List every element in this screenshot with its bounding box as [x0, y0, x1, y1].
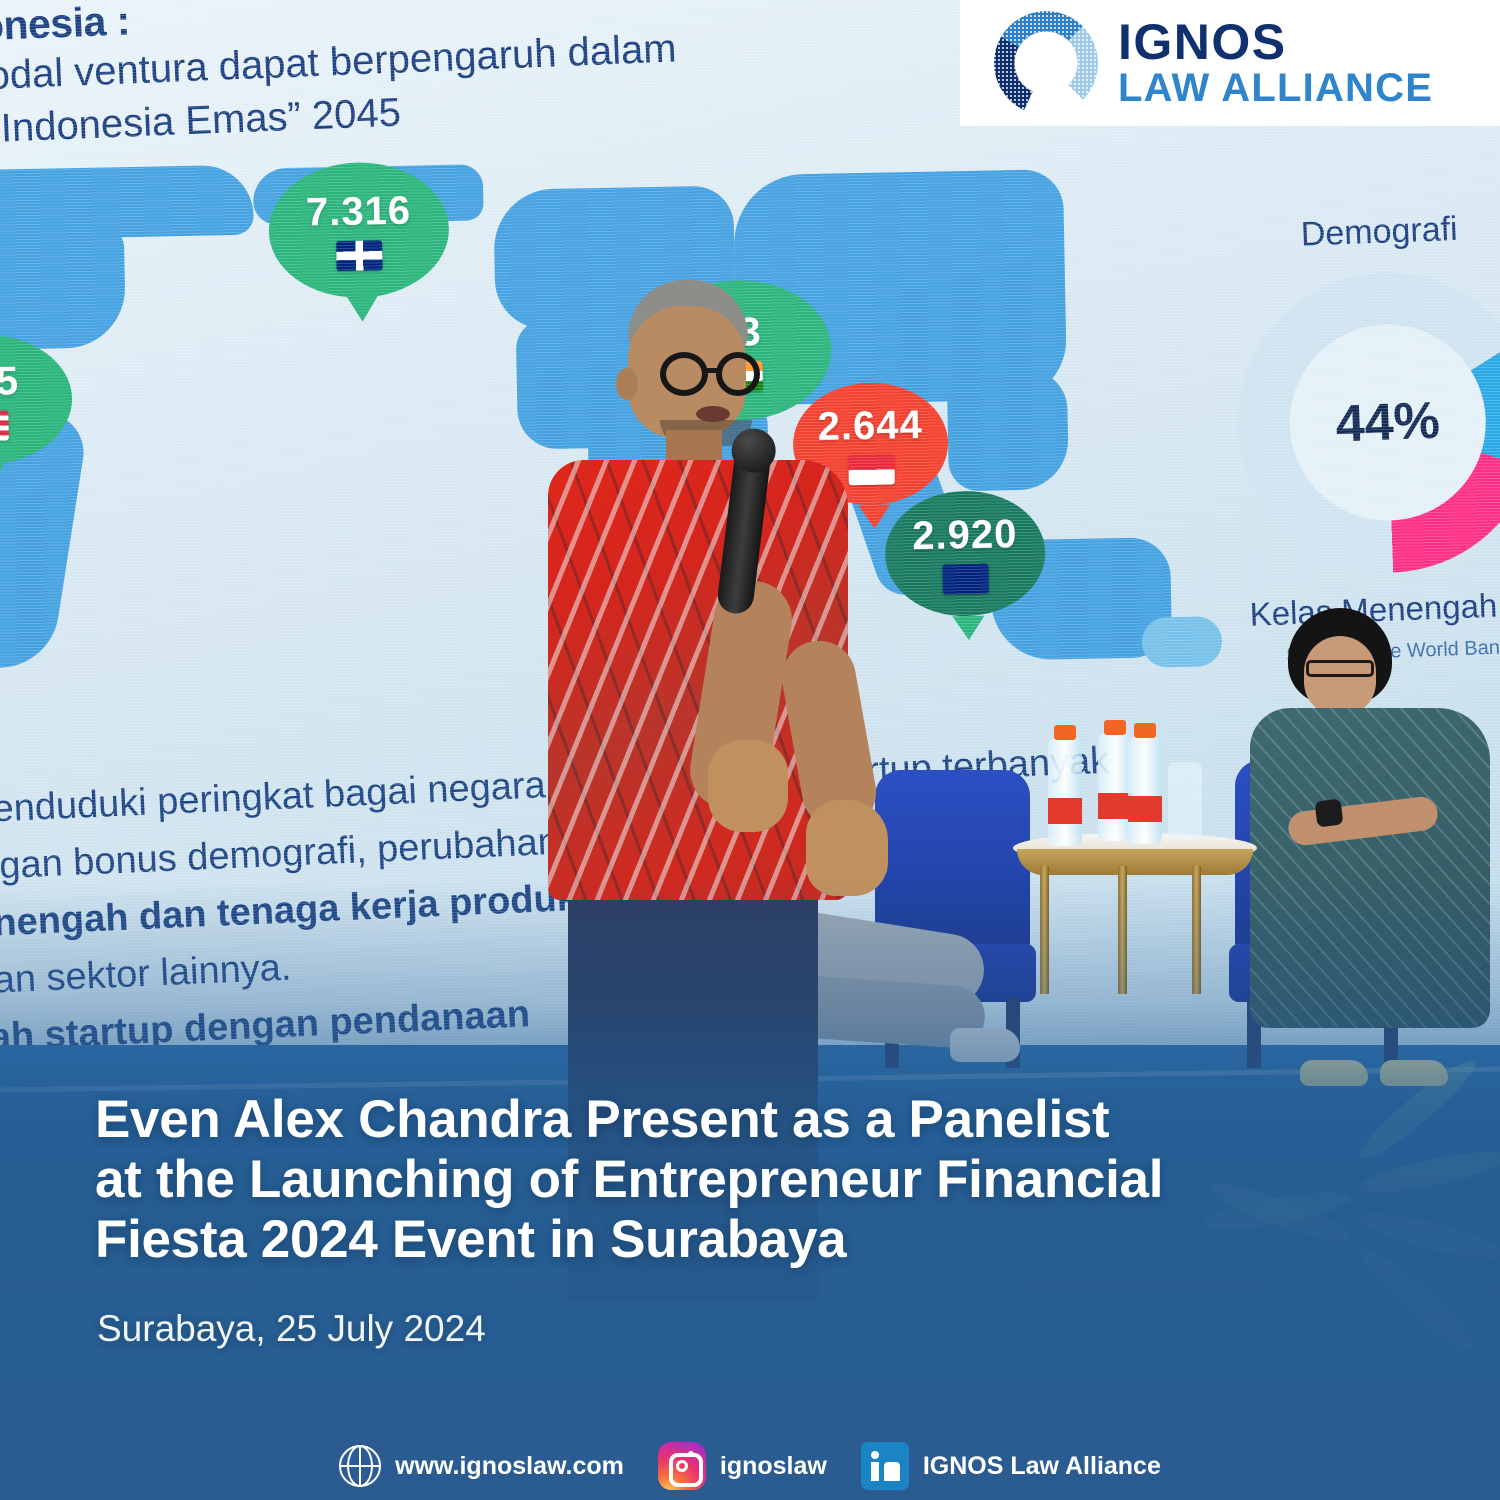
uk-flag [336, 240, 383, 271]
headline-line1: Even Alex Chandra Present as a Panelist [95, 1090, 1425, 1150]
headline-line2: at the Launching of Entrepreneur Financi… [95, 1150, 1425, 1210]
donut-center: 44% [1286, 321, 1489, 524]
australia-bubble: 2.920 [884, 490, 1046, 618]
water-bottle [1098, 733, 1132, 841]
water-bottle [1048, 738, 1082, 846]
poster: Indonesia : n modal ventura dapat berpen… [0, 0, 1500, 1500]
brand-tagline: LAW ALLIANCE [1118, 67, 1433, 109]
contact-footer: www.ignoslaw.com ignoslaw IGNOS Law Alli… [0, 1432, 1500, 1500]
water-glass [1168, 762, 1202, 840]
donut-ring: 44% [1232, 267, 1500, 578]
us-flag [0, 410, 8, 441]
donut-chart: Demografi 44% Kelas Menengah Sumber: The… [1130, 205, 1500, 642]
instagram-item[interactable]: ignoslaw [658, 1442, 827, 1490]
smartwatch [1315, 799, 1344, 828]
brand-name: IGNOS [1118, 18, 1433, 67]
linkedin-item[interactable]: IGNOS Law Alliance [861, 1442, 1161, 1490]
usa-bubble: 475 [0, 333, 73, 466]
water-bottle [1128, 736, 1162, 844]
ignos-ring-icon [994, 11, 1098, 115]
uk-bubble-value: 7.316 [306, 189, 412, 236]
page-title: Even Alex Chandra Present as a Panelist … [95, 1090, 1425, 1270]
event-date: Surabaya, 25 July 2024 [97, 1308, 486, 1350]
website-item[interactable]: www.ignoslaw.com [339, 1445, 624, 1487]
linkedin-label: IGNOS Law Alliance [923, 1452, 1161, 1481]
donut-value: 44% [1335, 391, 1441, 455]
uk-bubble: 7.316 [268, 161, 451, 299]
panelist-glasses [1306, 660, 1374, 677]
australia-bubble-value: 2.920 [912, 512, 1018, 559]
brand-logotype: IGNOS LAW ALLIANCE [1118, 18, 1433, 109]
instagram-icon [658, 1442, 706, 1490]
globe-icon [339, 1445, 381, 1487]
instagram-label: ignoslaw [720, 1452, 827, 1481]
usa-bubble-value: 475 [0, 359, 20, 405]
linkedin-icon [861, 1442, 909, 1490]
slide-heading: Indonesia : n modal ventura dapat berpen… [0, 0, 1043, 155]
slide-heading-line3: len “Indonesia Emas” 2045 [0, 65, 1043, 155]
slide-heading-line1: Indonesia : [0, 0, 1039, 53]
donut-title: Demografi [1300, 210, 1458, 255]
slide-heading-line2: n modal ventura dapat berpengaruh dalam [0, 12, 1041, 102]
headline-line3: Fiesta 2024 Event in Surabaya [95, 1210, 1425, 1270]
australia-flag [942, 564, 989, 595]
speaker-glasses [660, 352, 708, 396]
brand-logo-band: IGNOS LAW ALLIANCE [960, 0, 1500, 126]
website-label: www.ignoslaw.com [395, 1452, 624, 1481]
speaker-glasses-right [716, 352, 760, 396]
